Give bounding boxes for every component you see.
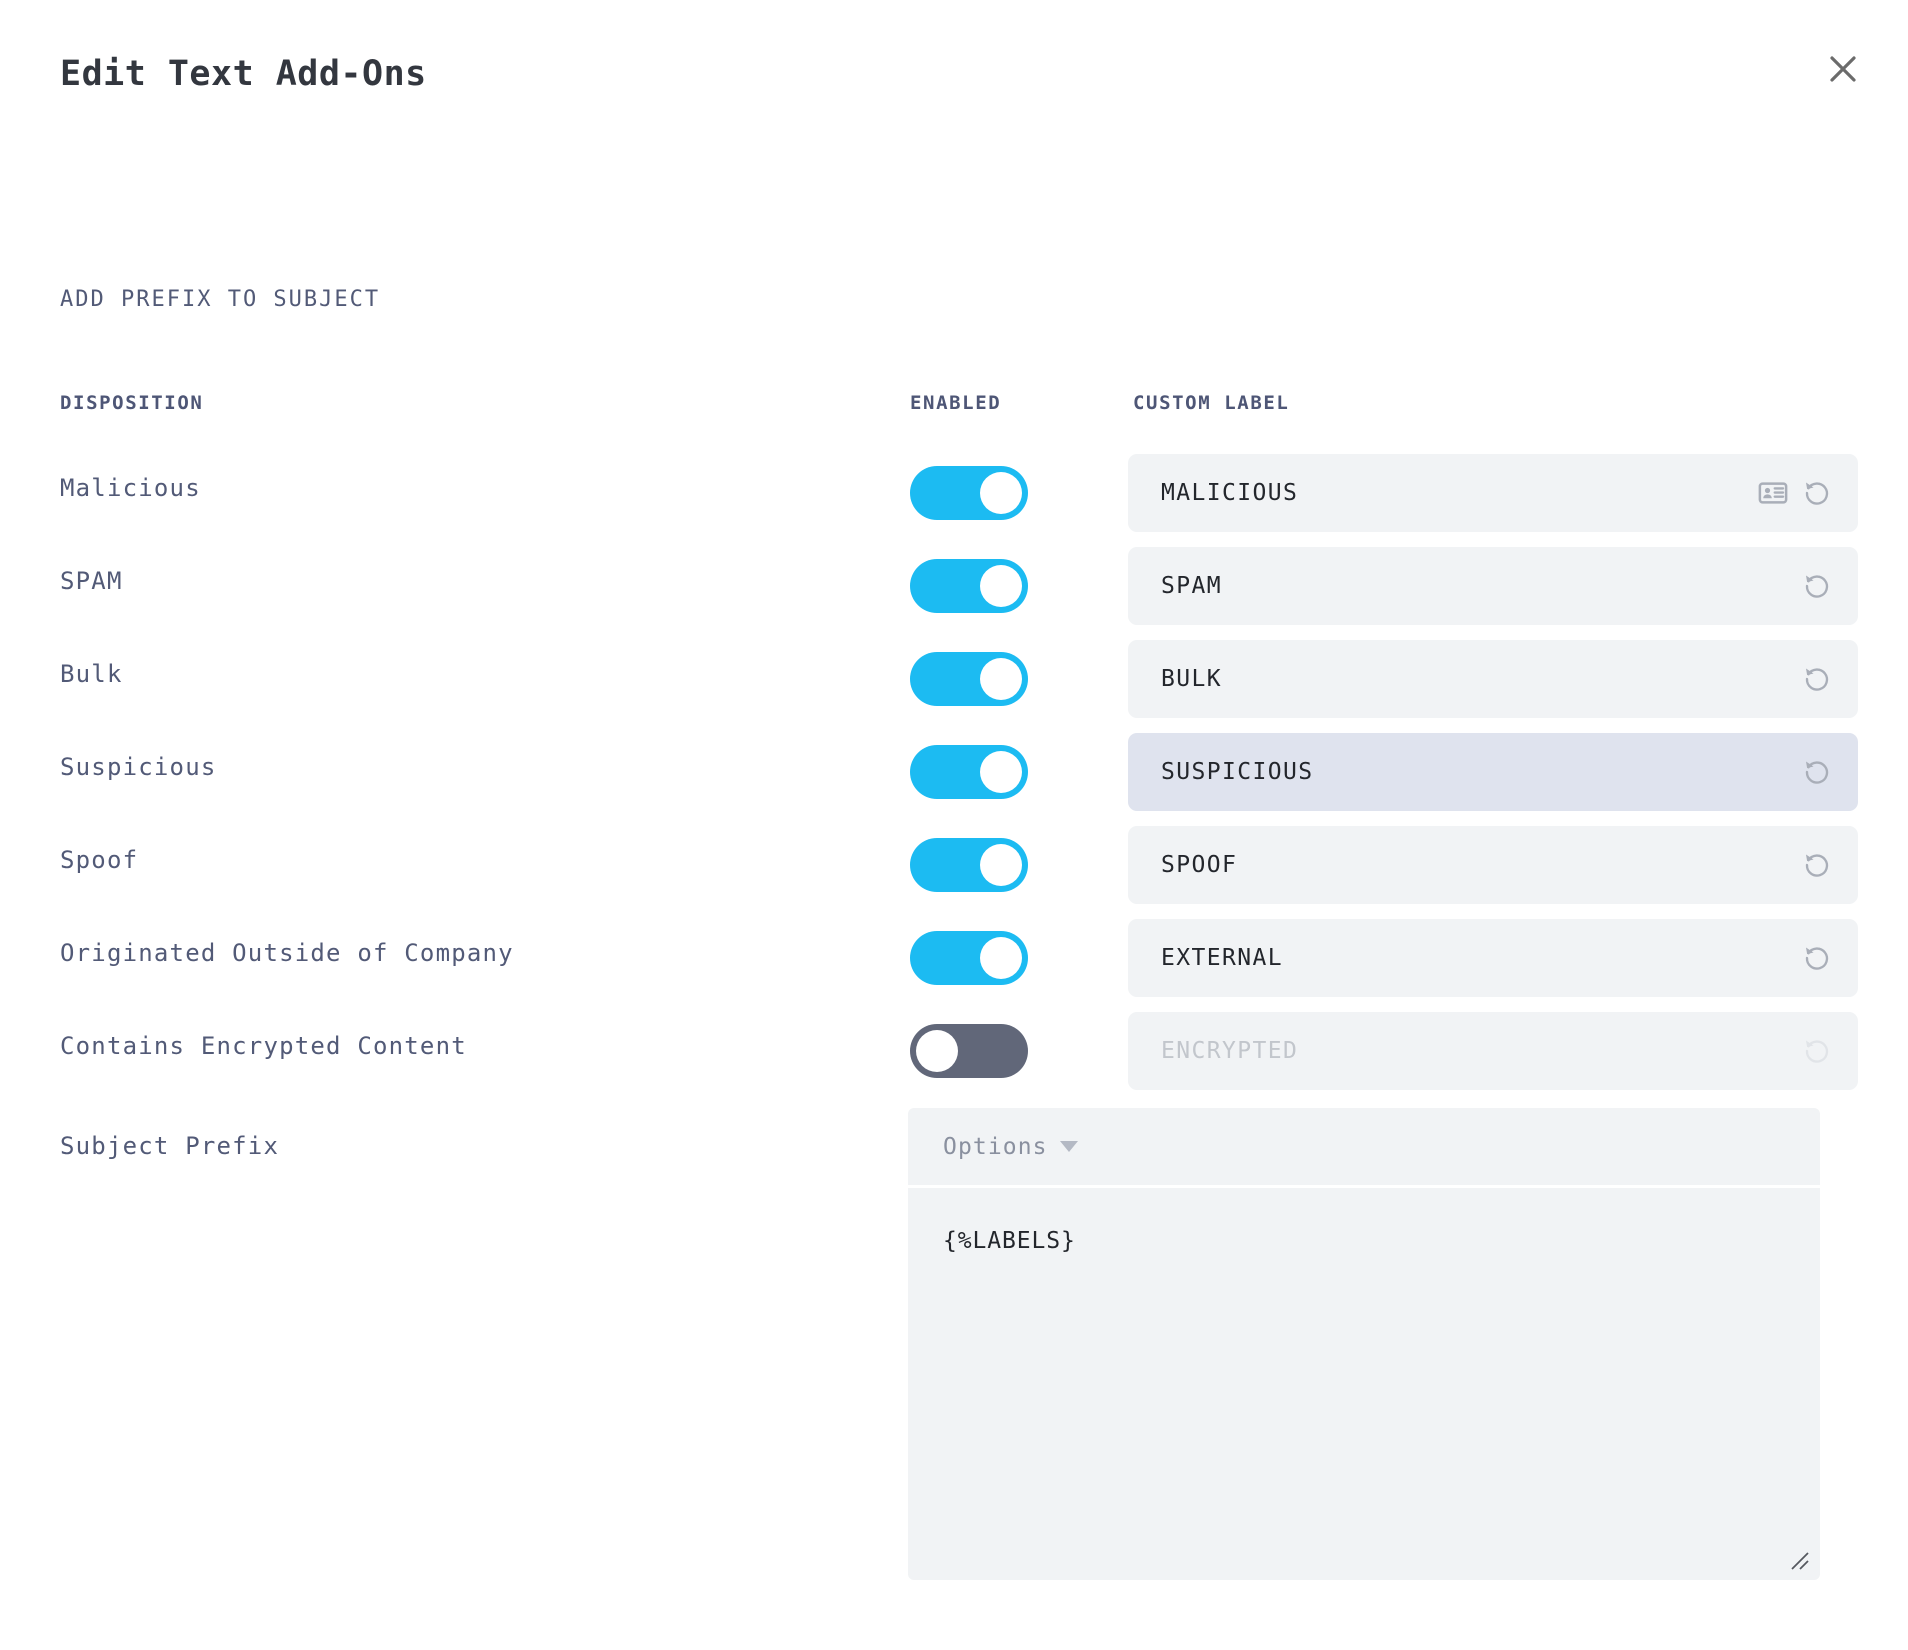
custom-label-value: SPAM [1128,573,1802,599]
disposition-rows: MaliciousMALICIOUSSPAMSPAMBulkBULKSuspic… [0,452,1908,1103]
column-header-custom-label: CUSTOM LABEL [1133,392,1289,414]
subject-prefix-textarea[interactable]: {%LABELS} [908,1188,1820,1580]
dialog-header: Edit Text Add-Ons [60,52,1868,112]
disposition-label: Malicious [60,474,201,502]
reset-icon[interactable] [1802,757,1832,787]
enabled-toggle[interactable] [910,838,1028,892]
custom-label-input[interactable]: MALICIOUS [1128,454,1858,532]
close-icon [1827,53,1859,85]
custom-label-input: ENCRYPTED [1128,1012,1858,1090]
resize-handle-icon[interactable] [1786,1547,1812,1573]
chevron-down-icon [1060,1141,1078,1152]
disposition-label: Spoof [60,846,138,874]
disposition-label: Bulk [60,660,123,688]
custom-label-value: SPOOF [1128,852,1802,878]
reset-icon[interactable] [1802,478,1832,508]
field-icon-group [1802,571,1858,601]
disposition-label: Contains Encrypted Content [60,1032,467,1060]
field-icon-group [1802,1036,1858,1066]
table-row: SuspiciousSUSPICIOUS [0,731,1908,824]
custom-label-value: SUSPICIOUS [1128,759,1802,785]
custom-label-input[interactable]: BULK [1128,640,1858,718]
reset-icon[interactable] [1802,850,1832,880]
edit-text-addons-dialog: Edit Text Add-Ons ADD PREFIX TO SUBJECT … [0,0,1908,1650]
enabled-toggle[interactable] [910,931,1028,985]
page-title: Edit Text Add-Ons [60,52,1868,96]
field-icon-group [1802,664,1858,694]
field-icon-group [1802,757,1858,787]
custom-label-value: BULK [1128,666,1802,692]
disposition-label: Suspicious [60,753,217,781]
options-dropdown-button[interactable]: Options [943,1134,1078,1160]
column-header-disposition: DISPOSITION [60,392,203,414]
custom-label-input[interactable]: SUSPICIOUS [1128,733,1858,811]
reset-icon[interactable] [1802,571,1832,601]
enabled-toggle[interactable] [910,1024,1028,1078]
custom-label-input[interactable]: SPOOF [1128,826,1858,904]
enabled-toggle[interactable] [910,745,1028,799]
custom-label-value: MALICIOUS [1128,480,1758,506]
enabled-toggle[interactable] [910,466,1028,520]
subject-prefix-value: {%LABELS} [943,1228,1785,1254]
custom-label-input[interactable]: EXTERNAL [1128,919,1858,997]
field-icon-group [1802,943,1858,973]
reset-icon [1802,1036,1832,1066]
custom-label-value: ENCRYPTED [1128,1038,1802,1064]
toggle-knob [980,751,1022,793]
table-row: Originated Outside of CompanyEXTERNAL [0,917,1908,1010]
close-button[interactable] [1820,46,1866,92]
editor-toolbar: Options [908,1108,1820,1188]
column-headers: DISPOSITION ENABLED CUSTOM LABEL [0,392,1908,422]
table-row: SpoofSPOOF [0,824,1908,917]
table-row: BulkBULK [0,638,1908,731]
reset-icon[interactable] [1802,943,1832,973]
toggle-knob [980,844,1022,886]
custom-label-input[interactable]: SPAM [1128,547,1858,625]
disposition-label: SPAM [60,567,123,595]
table-row: SPAMSPAM [0,545,1908,638]
table-row: MaliciousMALICIOUS [0,452,1908,545]
toggle-knob [980,658,1022,700]
enabled-toggle[interactable] [910,652,1028,706]
reset-icon[interactable] [1802,664,1832,694]
subject-prefix-editor: Options {%LABELS} [908,1108,1820,1580]
toggle-knob [980,937,1022,979]
toggle-knob [980,565,1022,607]
table-row: Contains Encrypted ContentENCRYPTED [0,1010,1908,1103]
toggle-knob [916,1030,958,1072]
enabled-toggle[interactable] [910,559,1028,613]
contact-card-icon[interactable] [1758,478,1788,508]
field-icon-group [1758,478,1858,508]
options-label: Options [943,1134,1048,1160]
subject-prefix-label: Subject Prefix [60,1132,279,1160]
field-icon-group [1802,850,1858,880]
custom-label-value: EXTERNAL [1128,945,1802,971]
column-header-enabled: ENABLED [910,392,1001,414]
section-title: ADD PREFIX TO SUBJECT [60,287,380,312]
toggle-knob [980,472,1022,514]
disposition-label: Originated Outside of Company [60,939,514,967]
